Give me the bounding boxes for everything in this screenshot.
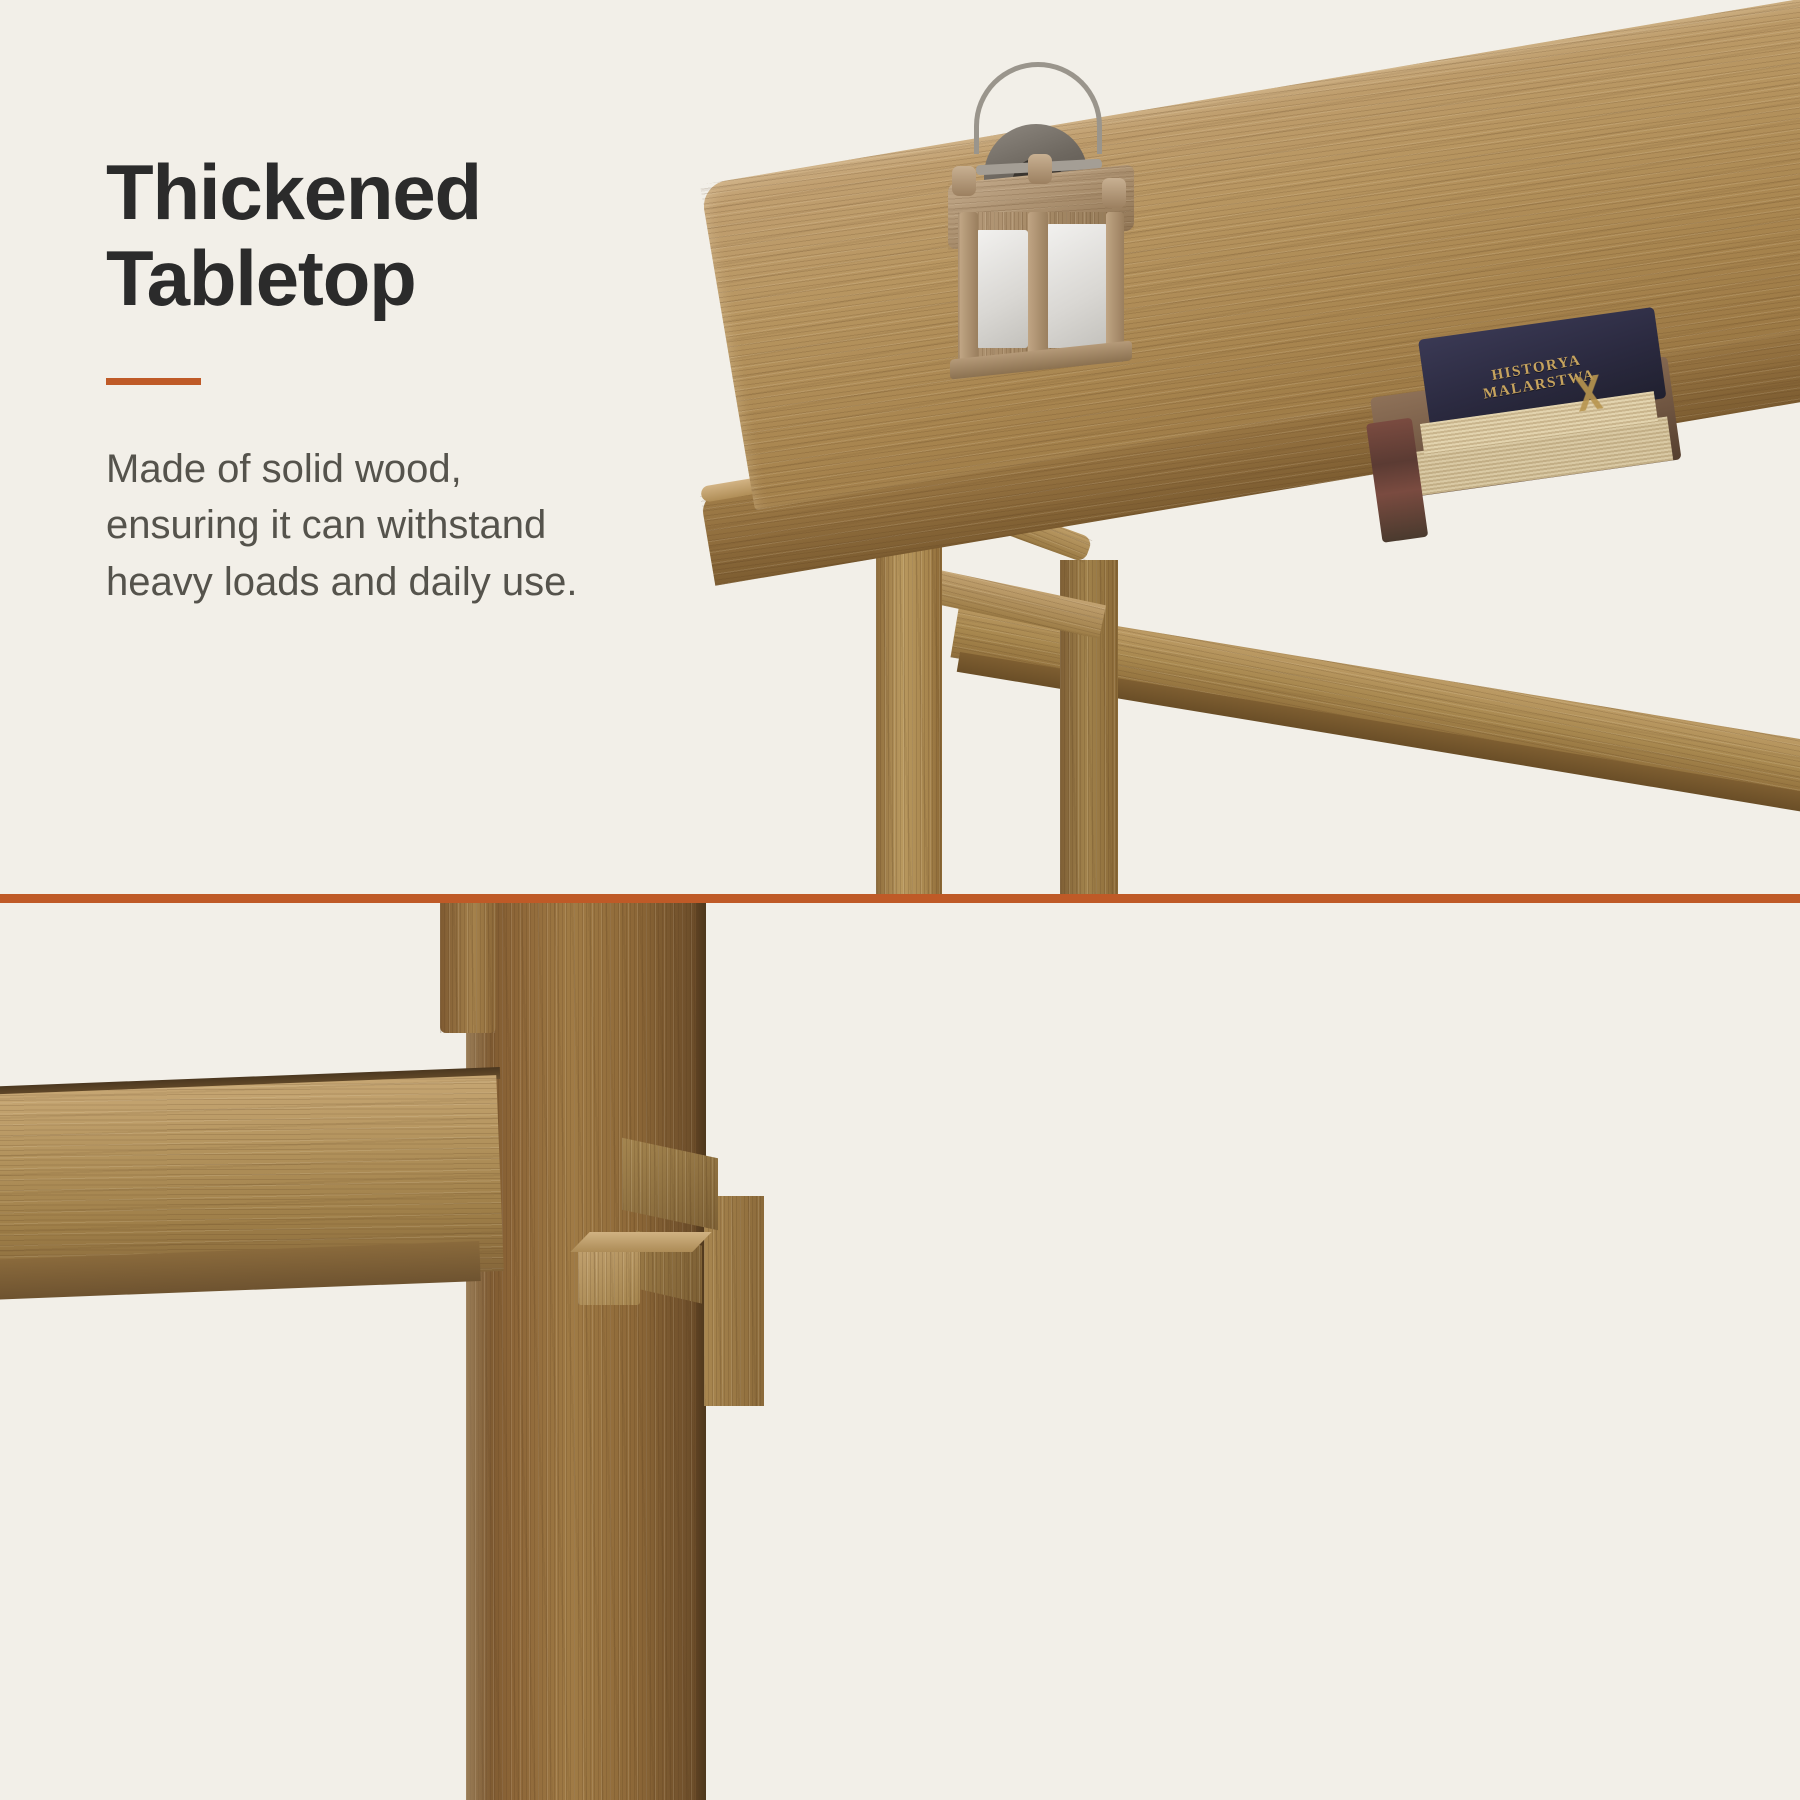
lantern-post-left	[960, 212, 978, 362]
product-feature-graphic: HISTORYA MALARSTWA Thickened Tabletop Ma…	[0, 0, 1800, 1800]
lantern-glass-right	[1046, 224, 1108, 348]
base-post	[466, 903, 696, 1800]
lantern-glass-left	[976, 230, 1028, 348]
lantern-finial-mid	[1028, 154, 1052, 184]
body-line-2: ensuring it can withstand	[106, 497, 746, 554]
body-copy-top: Made of solid wood, ensuring it can with…	[106, 441, 746, 611]
body-line-1: Made of solid wood,	[106, 441, 746, 498]
feature-copy-top: Thickened Tabletop Made of solid wood, e…	[106, 150, 746, 611]
lantern-post-right	[1106, 212, 1124, 362]
lantern-prop	[940, 62, 1140, 362]
accent-rule-top	[106, 378, 201, 385]
headline-line-1: Thickened	[106, 150, 746, 236]
base-post-cap	[440, 903, 496, 1033]
panel-unique-base-design: Unique Base Design The robust structure …	[0, 903, 1800, 1800]
lantern-finial-left	[952, 166, 976, 196]
background-fill-right	[766, 903, 1800, 1800]
base-post-highlight	[466, 903, 492, 1800]
headline-thickened-tabletop: Thickened Tabletop	[106, 150, 746, 322]
lantern-finial-right	[1102, 178, 1126, 208]
tenon-top-face	[570, 1232, 711, 1252]
headline-line-2: Tabletop	[106, 236, 746, 322]
tenon-peg-front	[578, 1243, 640, 1305]
lantern-post-mid	[1028, 212, 1048, 362]
panel-thickened-tabletop: HISTORYA MALARSTWA Thickened Tabletop Ma…	[0, 0, 1800, 894]
panel-divider-accent	[0, 894, 1800, 903]
book-emblem-icon	[1564, 373, 1614, 413]
body-line-3: heavy loads and daily use.	[106, 554, 746, 611]
books-prop: HISTORYA MALARSTWA	[1370, 340, 1710, 550]
